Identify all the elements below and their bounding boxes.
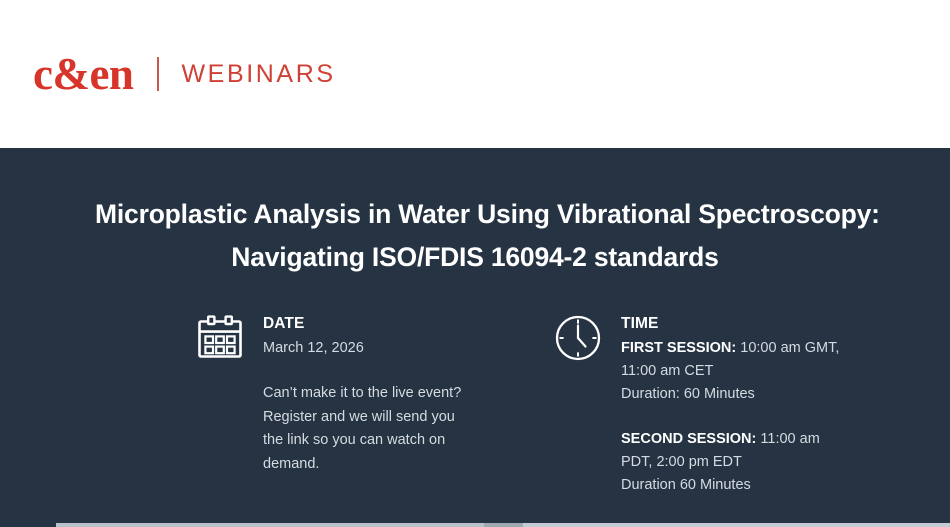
session-second-times: SECOND SESSION: 11:00 am PDT, 2:00 pm ED… — [621, 428, 844, 474]
webinar-landing-page: c&en WEBINARS Microplastic Analysis in W… — [0, 0, 950, 527]
time-block: TIME FIRST SESSION: 10:00 am GMT, 11:00 … — [554, 306, 844, 497]
page-title-line-2: Navigating ISO/FDIS 16094-2 standards — [95, 236, 855, 279]
bottom-edge-segment — [484, 523, 523, 527]
page-bottom-edge — [0, 523, 950, 527]
page-title: Microplastic Analysis in Water Using Vib… — [35, 148, 915, 279]
date-block-body: DATE March 12, 2026 Can’t make it to the… — [263, 306, 478, 476]
session-first-times: FIRST SESSION: 10:00 am GMT, 11:00 am CE… — [621, 337, 844, 383]
session-first-duration: Duration: 60 Minutes — [621, 383, 844, 406]
bottom-edge-segment — [56, 523, 484, 527]
webinar-details-row: DATE March 12, 2026 Can’t make it to the… — [0, 279, 950, 497]
session-first-label: FIRST SESSION: — [621, 340, 736, 356]
session-second-label: SECOND SESSION: — [621, 431, 756, 447]
webinar-hero-panel: Microplastic Analysis in Water Using Vib… — [0, 148, 950, 527]
vertical-divider-icon — [157, 57, 159, 91]
page-title-line-1: Microplastic Analysis in Water Using Vib… — [95, 193, 855, 236]
date-block: DATE March 12, 2026 Can’t make it to the… — [196, 306, 496, 476]
time-block-body: TIME FIRST SESSION: 10:00 am GMT, 11:00 … — [621, 306, 844, 497]
on-demand-note: Can’t make it to the live event? Registe… — [263, 382, 478, 476]
bottom-edge-segment — [523, 523, 950, 527]
webinars-label: WEBINARS — [181, 62, 335, 87]
site-header: c&en WEBINARS — [0, 0, 950, 148]
time-heading: TIME — [621, 314, 844, 333]
calendar-icon — [196, 314, 244, 362]
session-first: FIRST SESSION: 10:00 am GMT, 11:00 am CE… — [621, 337, 844, 406]
cen-wordmark: c&en — [33, 52, 133, 97]
bottom-edge-segment — [0, 523, 56, 527]
session-second: SECOND SESSION: 11:00 am PDT, 2:00 pm ED… — [621, 428, 844, 497]
clock-icon — [554, 314, 602, 362]
date-heading: DATE — [263, 314, 478, 333]
date-value: March 12, 2026 — [263, 337, 478, 360]
cen-webinars-logo[interactable]: c&en WEBINARS — [33, 50, 336, 98]
session-second-duration: Duration 60 Minutes — [621, 474, 844, 497]
